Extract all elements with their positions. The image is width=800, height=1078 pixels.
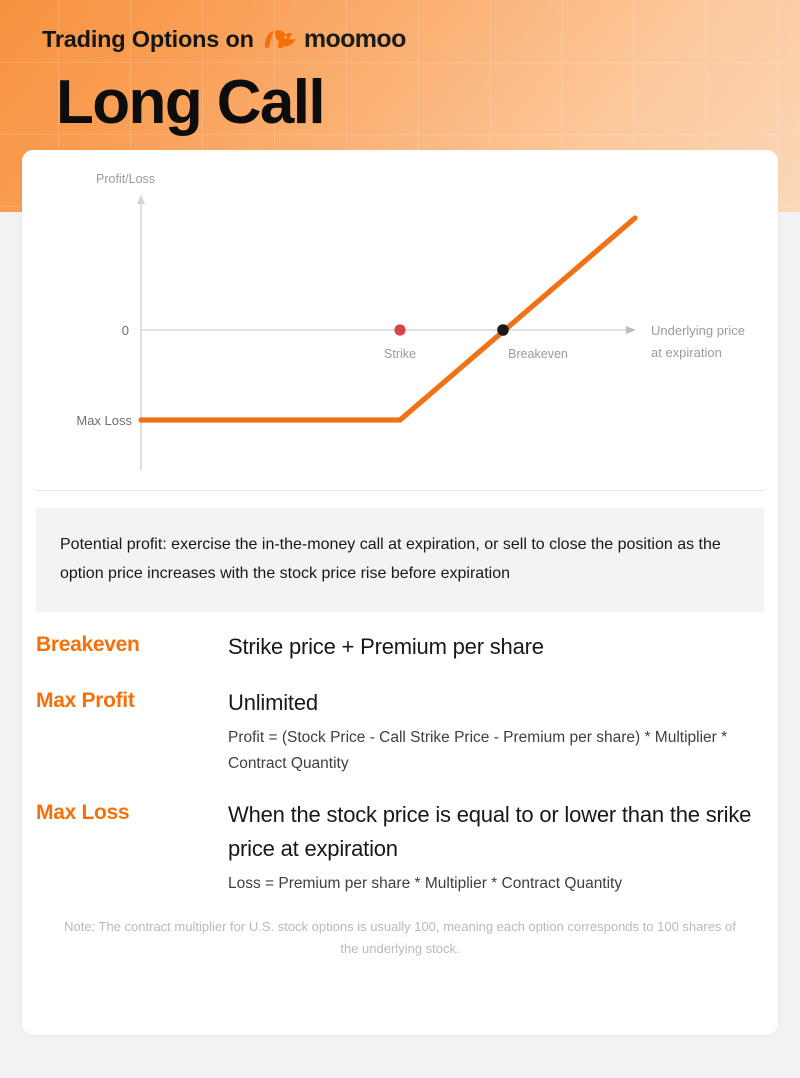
chart-x-axis-title-line1: Underlying price	[651, 323, 745, 338]
row-max-profit-formula: Profit = (Stock Price - Call Strike Pric…	[228, 725, 760, 775]
row-breakeven: Breakeven Strike price + Premium per sha…	[22, 630, 778, 664]
chart-zero-tick-label: 0	[122, 323, 129, 338]
payoff-chart: Profit/Loss 0 Max Loss Strike Breakeven …	[22, 150, 778, 490]
row-max-profit-label: Max Profit	[36, 686, 228, 713]
row-max-profit-body: Unlimited Profit = (Stock Price - Call S…	[228, 686, 760, 775]
page-root: Trading Options on moomoo Long Call	[0, 0, 800, 1078]
chart-y-axis-arrow-icon	[137, 194, 145, 204]
moomoo-wordmark: moomoo	[304, 25, 406, 54]
row-max-profit: Max Profit Unlimited Profit = (Stock Pri…	[22, 686, 778, 775]
strike-marker-dot	[394, 324, 405, 335]
row-breakeven-label: Breakeven	[36, 630, 228, 657]
potential-profit-callout: Potential profit: exercise the in-the-mo…	[36, 508, 764, 612]
row-max-loss-formula: Loss = Premium per share * Multiplier * …	[228, 871, 760, 896]
page-title: Long Call	[56, 70, 800, 136]
potential-profit-text: Potential profit: exercise the in-the-mo…	[60, 530, 742, 588]
payoff-line	[141, 218, 635, 420]
chart-breakeven-label: Breakeven	[508, 347, 568, 361]
section-divider	[36, 490, 764, 491]
footer-note: Note: The contract multiplier for U.S. s…	[56, 916, 744, 960]
detail-rows: Breakeven Strike price + Premium per sha…	[22, 612, 778, 896]
breakeven-marker-dot	[497, 324, 509, 336]
header-kicker-row: Trading Options on moomoo	[42, 22, 800, 56]
row-max-loss-body: When the stock price is equal to or lowe…	[228, 798, 760, 896]
chart-x-axis-arrow-icon	[626, 326, 636, 334]
row-max-profit-primary: Unlimited	[228, 686, 760, 720]
moomoo-bull-logo-icon	[263, 26, 297, 52]
content-card: Profit/Loss 0 Max Loss Strike Breakeven …	[22, 150, 778, 1035]
chart-x-axis-title-line2: at expiration	[651, 345, 722, 360]
chart-y-axis-title: Profit/Loss	[96, 172, 155, 186]
row-max-loss-primary: When the stock price is equal to or lowe…	[228, 798, 760, 866]
row-breakeven-body: Strike price + Premium per share	[228, 630, 760, 664]
row-max-loss: Max Loss When the stock price is equal t…	[22, 798, 778, 896]
row-breakeven-primary: Strike price + Premium per share	[228, 630, 760, 664]
moomoo-brand: moomoo	[263, 25, 406, 54]
chart-strike-label: Strike	[384, 347, 416, 361]
header-kicker-text: Trading Options on	[42, 26, 254, 53]
row-max-loss-label: Max Loss	[36, 798, 228, 825]
header-content: Trading Options on moomoo Long Call	[0, 0, 800, 136]
chart-max-loss-label: Max Loss	[76, 413, 132, 428]
